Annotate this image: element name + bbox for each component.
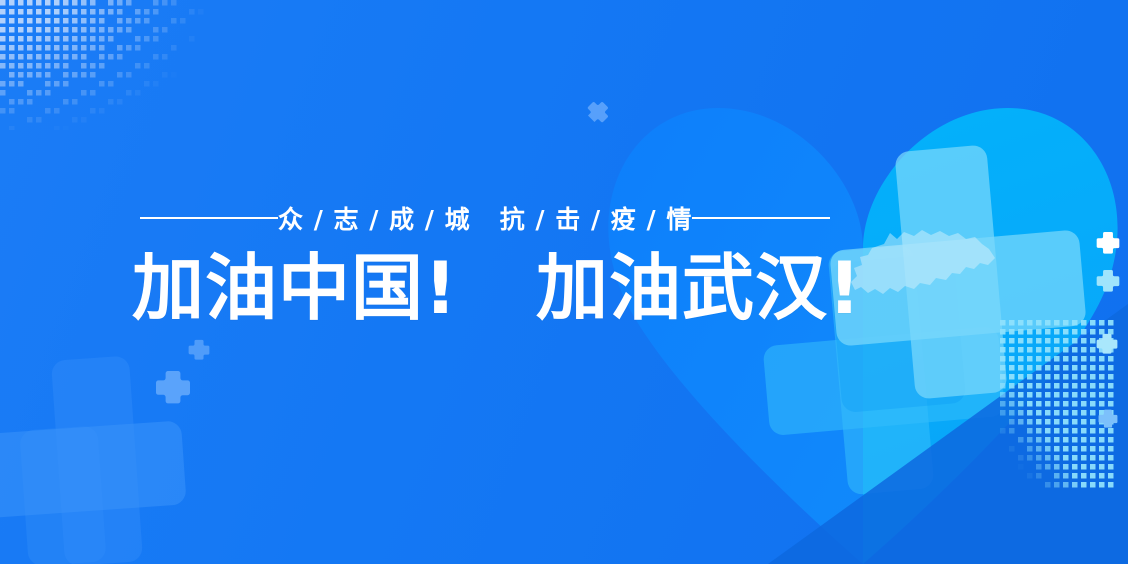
epidemic-support-banner: 众 / 志 / 成 / 城 抗 / 击 / 疫 / 情 加油中国! 加油武汉! bbox=[0, 0, 1128, 564]
dot-matrix-topleft-icon bbox=[0, 0, 210, 130]
mini-cross-left-upper-icon bbox=[188, 338, 210, 360]
mini-cross-right-third-icon bbox=[1096, 332, 1118, 354]
rule-left bbox=[140, 217, 278, 219]
mini-cross-right-lower-icon bbox=[1096, 268, 1120, 292]
mini-cross-left-lower-icon bbox=[155, 368, 191, 404]
bottomleft-cross-horizontal-bar bbox=[0, 420, 187, 519]
mini-cross-bottom-right-icon bbox=[1098, 408, 1118, 428]
mini-cross-right-upper-icon bbox=[1096, 230, 1120, 254]
